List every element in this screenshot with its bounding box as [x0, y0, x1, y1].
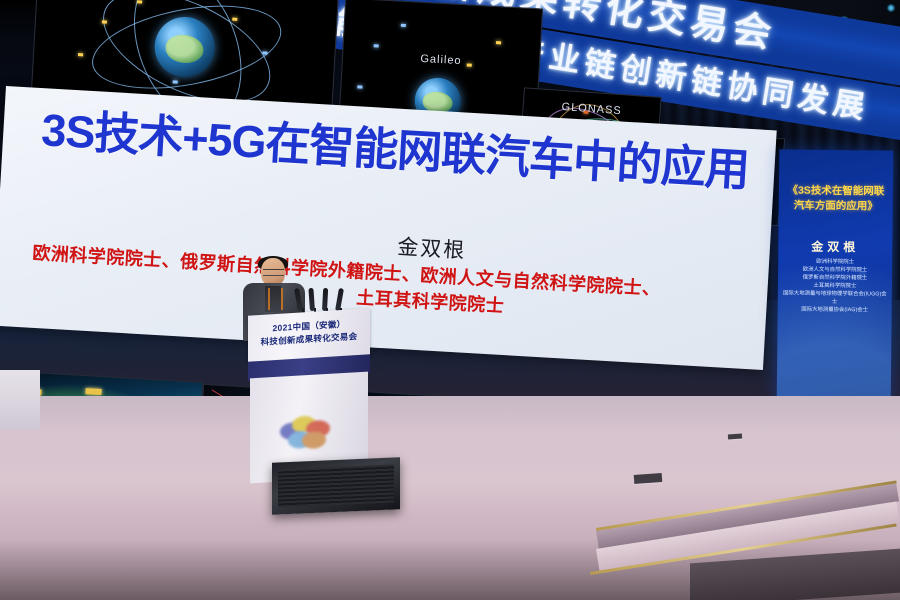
satellite-icon	[232, 18, 237, 21]
stage-floor-monitor	[272, 457, 400, 515]
slide-credentials: 欧洲科学院院士、俄罗斯自然科学院外籍院士、欧洲人文与自然科学院院士、 土耳其科学…	[30, 240, 742, 333]
logo-ring	[302, 431, 326, 449]
satellite-icon	[102, 20, 107, 23]
floor-reflection	[0, 396, 900, 516]
satellite-icon	[496, 41, 501, 44]
satellite-icon	[357, 85, 362, 88]
slide-speaker-name: 金双根	[397, 231, 468, 265]
satellite-icon	[401, 24, 406, 27]
right-banner-title: 《3S技术在智能网联 汽车方面的应用》	[784, 183, 888, 214]
spotlight-icon	[887, 4, 895, 12]
right-banner-credentials: 欧洲科学院院士 欧洲人文与自然科学院院士 俄罗斯自然科学院外籍院士 土耳其科学院…	[781, 257, 890, 314]
glasses-icon	[263, 269, 284, 276]
podium: 2021中国（安徽） 科技创新成果转化交易会	[248, 312, 370, 484]
credential-line: 国际大地测量协会(IAG)会士	[781, 305, 889, 314]
right-banner-speaker-name: 金双根	[783, 237, 887, 255]
satellite-icon	[467, 63, 472, 66]
right-banner-title-line-2: 汽车方面的应用》	[784, 198, 888, 214]
gnss-tile-galileo: Galileo	[339, 0, 543, 122]
right-banner-title-line-1: 《3S技术在智能网联	[784, 183, 888, 199]
satellite-icon	[173, 80, 178, 83]
satellite-icon	[262, 51, 267, 54]
photo-scene: 技创新成果转化交易会 能网联汽车产业链创新链协同发展 GPS Galileo G…	[0, 0, 900, 600]
satellite-icon	[78, 53, 83, 56]
floor-vent	[634, 473, 663, 484]
speaker-grille	[278, 464, 394, 507]
satellite-icon	[374, 44, 379, 47]
lanyard	[268, 288, 283, 310]
right-standing-banner: 《3S技术在智能网联 汽车方面的应用》 金双根 欧洲科学院院士 欧洲人文与自然科…	[777, 149, 894, 408]
floor-vent	[728, 434, 742, 440]
gnss-tile-galileo-label: Galileo	[420, 53, 462, 67]
presentation-slide: 3S技术+5G在智能网联汽车中的应用 金双根 欧洲科学院院士、俄罗斯自然科学院外…	[0, 86, 777, 370]
left-wall-panel	[0, 370, 40, 430]
satellite-icon	[85, 388, 101, 395]
satellite-icon	[137, 0, 142, 3]
credential-line: 国际大地测量与地球物理学联合会(IUGG)会士	[781, 289, 889, 306]
podium-logo	[278, 411, 334, 454]
